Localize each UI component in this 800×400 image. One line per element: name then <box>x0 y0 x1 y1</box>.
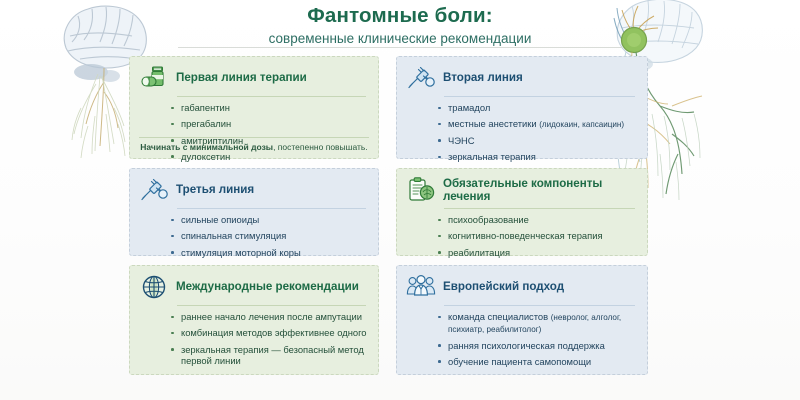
card-title: Европейский подход <box>443 280 564 293</box>
card-item-list: сильные опиоиды спинальная стимуляция ст… <box>139 214 368 258</box>
card-item-list: габапентин прегабалин амитриптилин дулок… <box>139 102 368 163</box>
list-item: стимуляция моторной коры <box>171 247 368 259</box>
recommendation-card-grid: Первая линия терапии габапентин прегабал… <box>129 56 648 375</box>
card-item-list: команда специалистов (невролог, алголог,… <box>406 311 637 368</box>
list-item: раннее начало лечения после ампутации <box>171 311 368 323</box>
list-item: реабилитация <box>438 247 637 259</box>
card-header: Третья линия <box>139 176 368 208</box>
list-item: психообразование <box>438 214 637 226</box>
note-bold: Начинать с минимальной дозы <box>140 142 273 152</box>
card-second-line[interactable]: Вторая линия трамадол местные анестетики… <box>396 56 648 159</box>
list-item: зеркальная терапия <box>438 151 637 163</box>
list-item: местные анестетики (лидокаин, капсаицин) <box>438 118 637 130</box>
card-header-rule <box>177 208 366 209</box>
list-item: сильные опиоиды <box>171 214 368 226</box>
card-header-rule <box>444 96 635 97</box>
card-header-rule <box>444 305 635 306</box>
note-rest: , постепенно повышать. <box>273 142 368 152</box>
globe-icon <box>139 273 169 301</box>
card-header: Международные рекомендации <box>139 273 368 305</box>
card-third-line[interactable]: Третья линия сильные опиоиды спинальная … <box>129 168 379 256</box>
list-item: дулоксетин <box>171 151 368 163</box>
card-header: Первая линия терапии <box>139 64 368 96</box>
card-international-guidelines[interactable]: Международные рекомендации раннее начало… <box>129 265 379 375</box>
page-title: Фантомные боли: <box>0 4 800 28</box>
card-item-list: трамадол местные анестетики (лидокаин, к… <box>406 102 637 163</box>
card-item-list: раннее начало лечения после ампутации ко… <box>139 311 368 367</box>
list-item: прегабалин <box>171 118 368 130</box>
infographic-header: Фантомные боли: современные клинические … <box>0 4 800 47</box>
card-footer-note: Начинать с минимальной дозы, постепенно … <box>139 137 369 152</box>
card-header-rule <box>444 208 635 209</box>
syringe-icon <box>139 176 169 204</box>
list-item: габапентин <box>171 102 368 114</box>
card-title: Вторая линия <box>443 71 523 84</box>
team-of-specialists-icon <box>406 273 436 301</box>
list-item: когнитивно-поведенческая терапия <box>438 230 637 242</box>
card-header-rule <box>177 96 366 97</box>
card-first-line-therapy[interactable]: Первая линия терапии габапентин прегабал… <box>129 56 379 159</box>
list-item: обучение пациента самопомощи <box>438 356 637 368</box>
card-header: Вторая линия <box>406 64 637 96</box>
page-subtitle: современные клинические рекомендации <box>0 31 800 47</box>
clipboard-brain-icon <box>406 176 436 204</box>
card-title: Первая линия терапии <box>176 71 307 84</box>
pills-bottle-icon <box>139 64 169 92</box>
card-title: Обязательные компоненты лечения <box>443 177 637 204</box>
card-mandatory-components[interactable]: Обязательные компоненты лечения психообр… <box>396 168 648 256</box>
card-title: Третья линия <box>176 183 254 196</box>
card-header: Обязательные компоненты лечения <box>406 176 637 208</box>
card-header: Европейский подход <box>406 273 637 305</box>
list-item: комбинация методов эффективнее одного <box>171 327 368 339</box>
list-item: спинальная стимуляция <box>171 230 368 242</box>
header-divider <box>178 47 622 48</box>
list-item: трамадол <box>438 102 637 114</box>
list-item: ЧЭНС <box>438 135 637 147</box>
list-item: зеркальная терапия — безопасный метод пе… <box>171 344 368 368</box>
syringe-icon <box>406 64 436 92</box>
card-european-approach[interactable]: Европейский подход команда специалистов … <box>396 265 648 375</box>
card-header-rule <box>177 305 366 306</box>
list-item: команда специалистов (невролог, алголог,… <box>438 311 637 335</box>
list-item: ранняя психологическая поддержка <box>438 340 637 352</box>
card-title: Международные рекомендации <box>176 280 359 293</box>
infographic-canvas: Фантомные боли: современные клинические … <box>0 0 800 400</box>
